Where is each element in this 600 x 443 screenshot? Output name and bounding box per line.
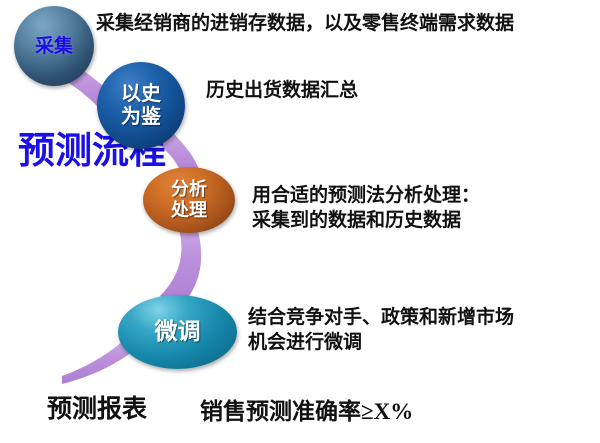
diagram-canvas: 预测流程 采集 以史 为鉴 分析 处理 微调 采集经销商的进销存数据，以及零售终… [0,0,600,443]
label-analyze: 用合适的预测法分析处理： 采集到的数据和历史数据 [252,183,480,233]
label-tune: 结合竞争对手、政策和新增市场 机会进行微调 [248,305,514,355]
label-collect: 采集经销商的进销存数据，以及零售终端需求数据 [96,11,514,36]
footer-report-label: 预测报表 [47,396,147,424]
node-history[interactable]: 以史 为鉴 [97,62,185,149]
node-analyze[interactable]: 分析 处理 [143,167,235,233]
ribbon-segment-4 [62,340,132,384]
node-tune[interactable]: 微调 [118,295,237,369]
page-title: 预测流程 [18,132,72,172]
node-collect[interactable]: 采集 [14,6,94,86]
label-history: 历史出货数据汇总 [206,78,358,103]
footer-kpi-label: 销售预测准确率≥X% [200,398,413,426]
